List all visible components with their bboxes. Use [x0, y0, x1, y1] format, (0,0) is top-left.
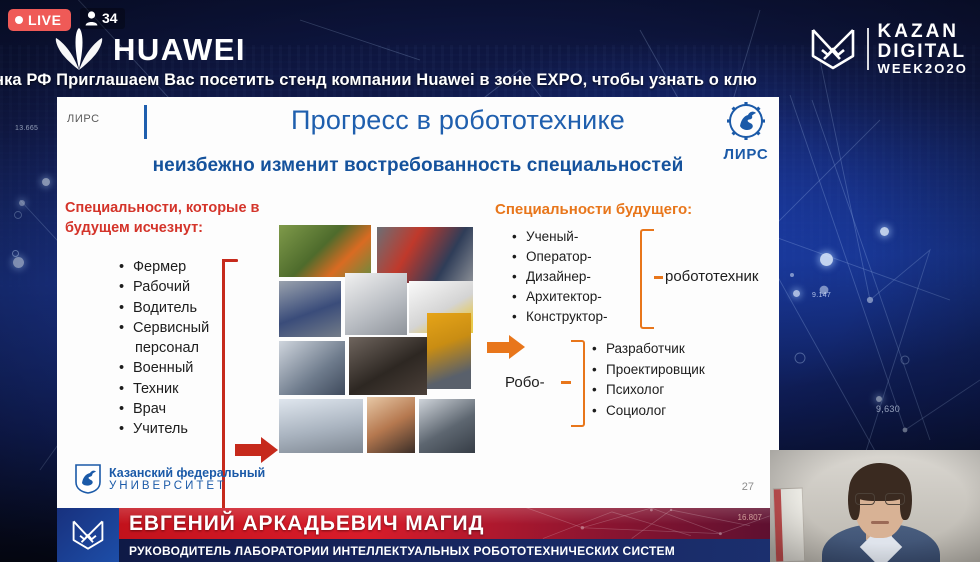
- photo-field-rover-robot: [279, 281, 341, 337]
- bullet-icon: •: [592, 339, 606, 360]
- roboticist-label: робототехник: [665, 268, 758, 285]
- huawei-wordmark: HUAWEI: [113, 34, 246, 65]
- lower-third-banner: ЕВГЕНИЙ АРКАДЬЕВИЧ МАГИД 16.807 РУКОВОДИ…: [57, 508, 770, 562]
- list-item-label: Оператор-: [526, 249, 592, 264]
- speaker-role-row: РУКОВОДИТЕЛЬ ЛАБОРАТОРИИ ИНТЕЛЛЕКТУАЛЬНЫ…: [119, 539, 770, 562]
- list-item-label: Рабочий: [133, 279, 190, 295]
- lower-third-text-block: ЕВГЕНИЙ АРКАДЬЕВИЧ МАГИД 16.807 РУКОВОДИ…: [119, 508, 770, 562]
- bullet-icon: •: [512, 287, 526, 307]
- list-item: •Учитель: [119, 419, 209, 439]
- kdw-line-2: DIGITAL: [878, 42, 968, 62]
- arrow-shaft: [487, 342, 509, 353]
- robot-photo-collage: [279, 225, 479, 453]
- kfu-logo: Казанский федеральный УНИВЕРСИТЕТ: [75, 464, 265, 494]
- bullet-icon: •: [592, 360, 606, 381]
- bullet-icon: •: [119, 379, 133, 399]
- speaker-name-row: ЕВГЕНИЙ АРКАДЬЕВИЧ МАГИД 16.807: [119, 508, 770, 539]
- bullet-icon: •: [592, 380, 606, 401]
- list-item: •Архитектор-: [512, 287, 607, 307]
- huawei-brand: HUAWEI: [55, 28, 246, 70]
- kdw-line-1: KAZAN: [878, 22, 968, 42]
- viewer-count: 34: [80, 8, 125, 29]
- presentation-slide[interactable]: ЛИРС Прогресс в робототехнике: [57, 97, 779, 508]
- list-item-label: Врач: [133, 401, 166, 417]
- list-item: •Сервисный: [119, 318, 209, 338]
- left-group-bracket-top: [222, 259, 238, 262]
- list-item: •Конструктор-: [512, 307, 607, 327]
- bullet-icon: •: [119, 298, 133, 318]
- speaker-role: РУКОВОДИТЕЛЬ ЛАБОРАТОРИИ ИНТЕЛЛЕКТУАЛЬНЫ…: [119, 544, 675, 558]
- bullet-icon: •: [512, 247, 526, 267]
- future-professions-heading: Специальности будущего:: [495, 201, 692, 218]
- bullet-icon: •: [512, 267, 526, 287]
- list-item-label: Проектировщик: [606, 362, 705, 377]
- viewer-count-value: 34: [102, 10, 118, 26]
- list-item: •Социолог: [592, 401, 705, 422]
- stream-viewport: 13.665 9.147 9,630 LIVE 34 HUAWEI: [0, 0, 980, 562]
- list-item-label: Конструктор-: [526, 309, 607, 324]
- list-item: •Разработчик: [592, 339, 705, 360]
- speaker-video-feed[interactable]: [770, 450, 980, 562]
- list-item: •Военный: [119, 358, 209, 378]
- speaker-name: ЕВГЕНИЙ АРКАДЬЕВИЧ МАГИД: [119, 512, 484, 536]
- list-item-label: Психолог: [606, 382, 664, 397]
- robo-group-bracket: [571, 340, 585, 427]
- bullet-icon: •: [119, 277, 133, 297]
- huawei-flower-logo-icon: [55, 28, 103, 70]
- list-item: •Водитель: [119, 298, 209, 318]
- list-item: •Проектировщик: [592, 360, 705, 381]
- lirs-logo: ЛИРС: [715, 99, 777, 163]
- list-item: •Психолог: [592, 380, 705, 401]
- photo-female-android-portrait: [367, 397, 415, 453]
- roboticist-bracket-nub: [654, 276, 663, 279]
- photo-surgical-robot: [345, 273, 407, 335]
- lower-third-logo: [57, 508, 119, 562]
- list-item: •Врач: [119, 399, 209, 419]
- bullet-icon: •: [119, 399, 133, 419]
- slide-org-abbrev: ЛИРС: [67, 113, 100, 125]
- list-item-label: Военный: [133, 360, 193, 376]
- list-item-label: Фермер: [133, 259, 186, 275]
- roboticist-group-bracket: [640, 229, 654, 329]
- list-item: •Фермер: [119, 257, 209, 277]
- photo-two-people-portrait: [349, 337, 427, 395]
- slide-page-number: 27: [742, 481, 754, 493]
- slide-header-divider: [144, 105, 147, 139]
- list-item-label: Сервисный: [133, 320, 209, 336]
- photo-service-robot-with-child: [279, 341, 345, 395]
- list-item: •Техник: [119, 379, 209, 399]
- kazan-digital-week-logo-icon: [808, 26, 858, 72]
- robo-bracket-nub: [561, 381, 571, 384]
- arrow-head: [261, 437, 278, 463]
- photo-exoskeleton-suit: [427, 313, 471, 389]
- kdw-divider: [867, 28, 869, 70]
- news-ticker: нка РФ Приглашаем Вас посетить стенд ком…: [0, 68, 980, 92]
- slide-subtitle: неизбежно изменит востребованность специ…: [57, 155, 779, 177]
- person-icon: [85, 11, 98, 26]
- ticker-text: нка РФ Приглашаем Вас посетить стенд ком…: [0, 71, 757, 90]
- list-item-label: Водитель: [133, 300, 197, 316]
- robo-prefix-label: Робо-: [505, 374, 545, 391]
- bullet-icon: •: [119, 358, 133, 378]
- kazan-digital-week-mark-icon: [70, 518, 106, 552]
- list-item: •Ученый-: [512, 227, 607, 247]
- photo-self-driving-car: [279, 399, 363, 453]
- transition-arrow-red: [235, 437, 278, 463]
- bullet-icon: •: [119, 318, 133, 338]
- kfu-shield-winged-snow-leopard-icon: [75, 464, 101, 494]
- list-item: •Дизайнер-: [512, 267, 607, 287]
- list-item-label: Учитель: [133, 421, 188, 437]
- banner-overlay-number: 16.807: [738, 513, 762, 522]
- arrow-shaft: [235, 444, 261, 456]
- slide-title: Прогресс в робототехнике: [207, 105, 709, 136]
- bullet-icon: •: [592, 401, 606, 422]
- lirs-gear-winged-logo-icon: [721, 99, 771, 145]
- disappearing-professions-heading: Специальности, которые в будущем исчезну…: [65, 199, 297, 238]
- list-item-label: Разработчик: [606, 341, 685, 356]
- live-dot-icon: [15, 16, 23, 24]
- bullet-icon: •: [512, 307, 526, 327]
- bullet-icon: •: [119, 257, 133, 277]
- kfu-line-2: УНИВЕРСИТЕТ: [109, 480, 265, 493]
- kfu-wordmark: Казанский федеральный УНИВЕРСИТЕТ: [109, 466, 265, 493]
- list-item: •Оператор-: [512, 247, 607, 267]
- list-item-continuation: персонал: [119, 338, 209, 358]
- list-item-label: Техник: [133, 381, 179, 397]
- photo-tracked-rescue-robot: [419, 399, 475, 453]
- list-item-label: Ученый-: [526, 229, 578, 244]
- robo-professions-list: •Разработчик •Проектировщик •Психолог •С…: [592, 339, 705, 422]
- list-item: •Рабочий: [119, 277, 209, 297]
- disappearing-professions-list: •Фермер •Рабочий •Водитель •Сервисный пе…: [119, 257, 209, 440]
- list-item-label: Социолог: [606, 403, 666, 418]
- bullet-icon: •: [512, 227, 526, 247]
- list-item-label: персонал: [135, 340, 199, 356]
- photo-harvesting-robot-arm: [279, 225, 371, 277]
- future-professions-list: •Ученый- •Оператор- •Дизайнер- •Архитект…: [512, 227, 607, 327]
- slide-header: ЛИРС Прогресс в робототехнике: [57, 97, 779, 149]
- list-item-label: Дизайнер-: [526, 269, 591, 284]
- kfu-line-1: Казанский федеральный: [109, 466, 265, 480]
- bullet-icon: •: [119, 419, 133, 439]
- arrow-head: [509, 335, 525, 359]
- webcam-vignette: [770, 450, 980, 562]
- live-label: LIVE: [28, 12, 62, 28]
- transition-arrow-orange: [487, 335, 525, 359]
- list-item-label: Архитектор-: [526, 289, 602, 304]
